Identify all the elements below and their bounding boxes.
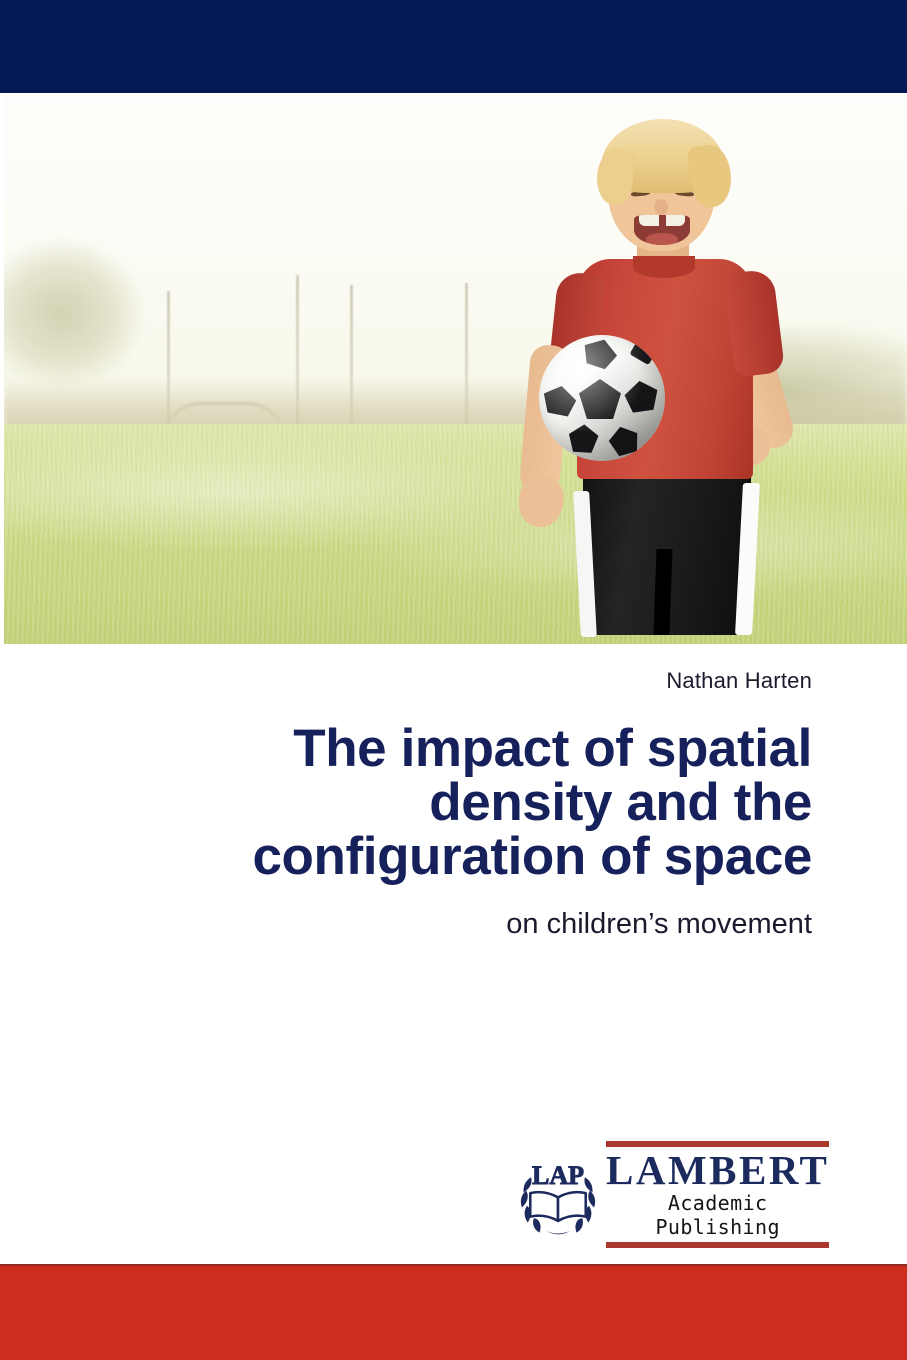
boy-hair — [601, 119, 725, 193]
boy-tongue — [646, 233, 678, 245]
logo-rule-bottom — [606, 1242, 829, 1248]
publisher-wordmark: LAMBERT Academic Publishing — [606, 1141, 829, 1248]
logo-rule-top — [606, 1141, 829, 1147]
book-subtitle: on children’s movement — [0, 908, 812, 941]
lap-emblem-icon: LAP — [516, 1152, 600, 1236]
title-line: The impact of spatial — [60, 722, 812, 776]
boy-teeth — [639, 215, 685, 226]
publisher-tagline: Academic Publishing — [606, 1191, 829, 1239]
publisher-logo: LAP LAMBERT Academic Publishing — [516, 1148, 828, 1240]
soccer-ball — [539, 335, 665, 461]
background-tree-left — [4, 238, 144, 388]
book-title: The impact of spatial density and the co… — [60, 722, 812, 884]
publisher-name: LAMBERT — [606, 1149, 829, 1191]
boy-figure — [491, 95, 851, 644]
top-color-band — [0, 0, 907, 93]
boy-nose — [654, 199, 668, 215]
cover-photo — [4, 95, 907, 644]
title-line: configuration of space — [60, 830, 812, 884]
ball-shading — [539, 335, 665, 461]
author-name: Nathan Harten — [0, 668, 812, 694]
svg-text:LAP: LAP — [532, 1161, 584, 1190]
boy-left-hand — [516, 475, 566, 530]
bottom-color-band — [0, 1264, 907, 1360]
boy-shorts — [583, 467, 751, 635]
title-line: density and the — [60, 776, 812, 830]
boy-mouth — [634, 215, 690, 245]
